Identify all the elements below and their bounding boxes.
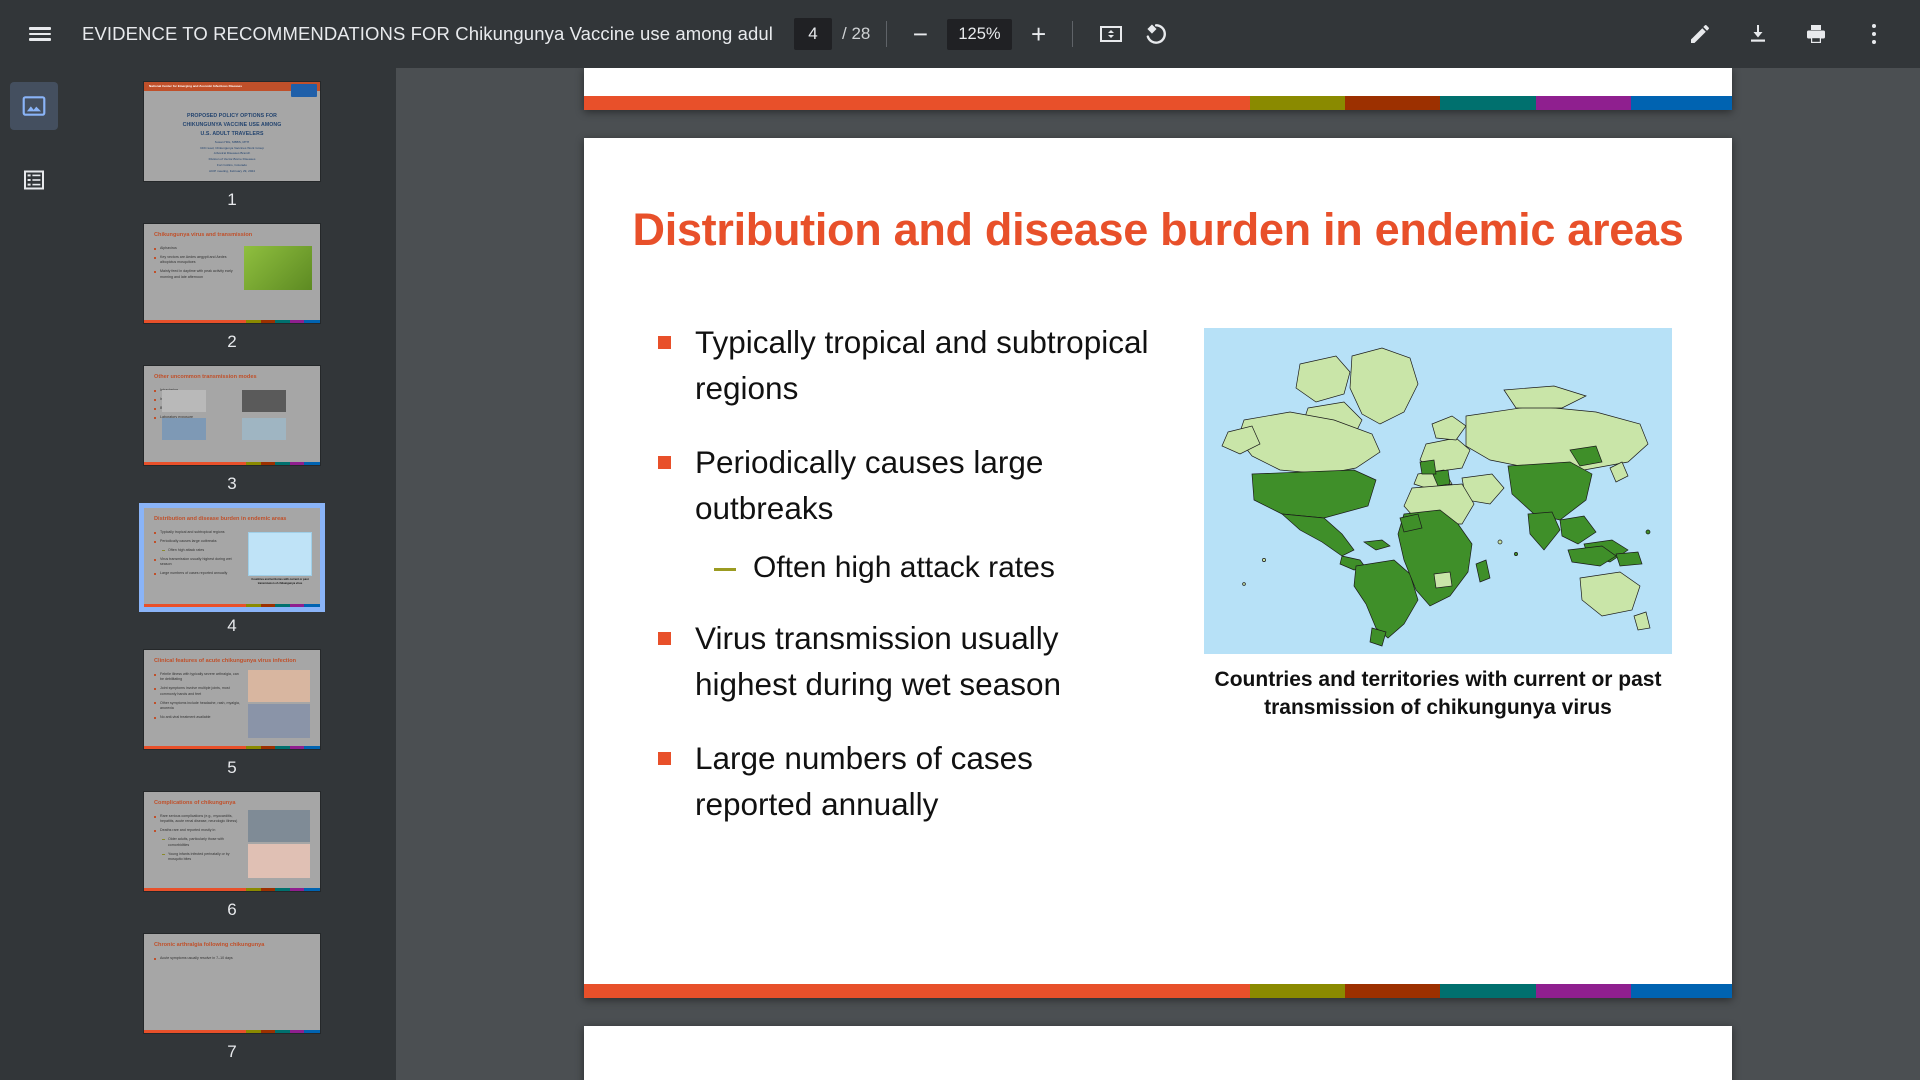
toolbar-divider-2 <box>1072 21 1073 47</box>
bullet-text: Large numbers of cases reported annually <box>695 736 1158 828</box>
thumbnail-title: Chronic arthralgia following chikungunya <box>154 942 264 948</box>
print-icon[interactable] <box>1794 12 1838 56</box>
slide-bullet: Large numbers of cases reported annually <box>658 736 1158 828</box>
thumbnail-footer-bar <box>144 888 320 891</box>
slide-bullet: Periodically causes large outbreaks <box>658 440 1158 532</box>
thumbnail-title: PROPOSED POLICY OPTIONS FORCHIKUNGUNYA V… <box>144 112 320 139</box>
thumbnail-item[interactable]: Chronic arthralgia following chikungunya… <box>68 934 396 1062</box>
thumbnail-photo <box>244 246 312 290</box>
thumbnail-item[interactable]: Distribution and disease burden in endem… <box>68 508 396 636</box>
page-3-bottom <box>584 68 1732 110</box>
thumbnail-subtitle: Susan Hills, MBBS, MTHCDC lead, Chikungu… <box>144 140 320 174</box>
page-4-slide: Distribution and disease burden in endem… <box>584 138 1732 998</box>
thumbnail-photo <box>162 390 206 412</box>
bullet-text: Typically tropical and subtropical regio… <box>695 320 1158 412</box>
thumbnail-page-number: 6 <box>227 900 236 920</box>
slide-footer-bar <box>584 984 1732 998</box>
thumbnail-preview[interactable]: Chikungunya virus and transmissionAlphav… <box>144 224 320 323</box>
thumbnail-footer-bar <box>144 746 320 749</box>
cdc-logo <box>291 84 317 97</box>
bullet-text: Virus transmission usually highest durin… <box>695 616 1158 708</box>
rotate-counterclockwise-icon[interactable] <box>1133 12 1177 56</box>
thumbnail-photo <box>248 810 310 842</box>
square-bullet-icon <box>658 336 671 349</box>
footer-segment <box>1250 96 1345 110</box>
pencil-edit-icon[interactable] <box>1678 12 1722 56</box>
thumbnail-page-number: 3 <box>227 474 236 494</box>
thumbnail-title: Other uncommon transmission modes <box>154 374 257 380</box>
footer-segment <box>1536 96 1631 110</box>
download-icon[interactable] <box>1736 12 1780 56</box>
thumbnail-item[interactable]: PROPOSED POLICY OPTIONS FORCHIKUNGUNYA V… <box>68 82 396 210</box>
thumbnail-page-number: 5 <box>227 758 236 778</box>
slide-footer-bar <box>584 96 1732 110</box>
slide-bullet: Typically tropical and subtropical regio… <box>658 320 1158 412</box>
square-bullet-icon <box>658 752 671 765</box>
thumbnail-page-number: 1 <box>227 190 236 210</box>
bullet-text: Often high attack rates <box>753 546 1055 590</box>
zoom-level-display[interactable]: 125% <box>947 19 1011 50</box>
pdf-viewer-toolbar: EVIDENCE TO RECOMMENDATIONS FOR Chikungu… <box>0 0 1920 68</box>
thumbnail-photo <box>162 418 206 440</box>
page-total-label: / 28 <box>842 24 870 44</box>
fit-to-page-icon[interactable] <box>1089 12 1133 56</box>
sidebar-icon-rail <box>0 68 68 1080</box>
thumbnail-bullets: Rare serious complications (e.g., myocar… <box>154 814 242 866</box>
footer-segment <box>584 984 1250 998</box>
slide-sub-bullet: Often high attack rates <box>714 546 1158 590</box>
zoom-in-button[interactable]: + <box>1022 17 1056 51</box>
document-viewer[interactable]: Distribution and disease burden in endem… <box>396 68 1920 1080</box>
thumbnail-footer-bar <box>144 1030 320 1033</box>
more-options-kebab-icon[interactable] <box>1852 12 1896 56</box>
thumbnail-pane[interactable]: PROPOSED POLICY OPTIONS FORCHIKUNGUNYA V… <box>68 68 396 1080</box>
page-navigation: / 28 <box>794 18 870 50</box>
thumbnail-page-number: 4 <box>227 616 236 636</box>
thumbnail-photo <box>242 390 286 412</box>
thumbnail-title: Complications of chikungunya <box>154 800 235 806</box>
dash-bullet-icon <box>714 568 736 571</box>
thumbnail-footer-bar <box>144 320 320 323</box>
thumbnail-title: Chikungunya virus and transmission <box>154 232 252 238</box>
toolbar-right-actions <box>1678 12 1920 56</box>
square-bullet-icon <box>658 456 671 469</box>
thumbnail-preview[interactable]: Distribution and disease burden in endem… <box>144 508 320 607</box>
thumbnail-footer-bar <box>144 462 320 465</box>
thumbnail-photo <box>248 844 310 878</box>
page-number-input[interactable] <box>794 18 832 50</box>
thumbnail-item[interactable]: Chikungunya virus and transmissionAlphav… <box>68 224 396 352</box>
thumbnail-bullets: AlphavirusKey vectors are Aedes aegypti … <box>154 246 242 284</box>
map-caption: Countries and territories with current o… <box>1188 666 1688 723</box>
thumbnail-bullets: Typically tropical and subtropical regio… <box>154 530 242 580</box>
page-5-slide-top: Clinical features of acute chikungunya v… <box>584 1026 1732 1080</box>
thumbnail-photo <box>248 670 310 702</box>
square-bullet-icon <box>658 632 671 645</box>
hamburger-menu-icon[interactable] <box>18 12 62 56</box>
footer-segment <box>1440 984 1535 998</box>
thumbnail-header-text: National Center for Emerging and Zoonoti… <box>149 84 242 88</box>
thumbnail-preview[interactable]: PROPOSED POLICY OPTIONS FORCHIKUNGUNYA V… <box>144 82 320 181</box>
toolbar-divider-1 <box>886 21 887 47</box>
thumbnail-page-number: 7 <box>227 1042 236 1062</box>
thumbnail-item[interactable]: Other uncommon transmission modesIntraut… <box>68 366 396 494</box>
thumbnail-photo <box>248 704 310 738</box>
thumbnail-list: PROPOSED POLICY OPTIONS FORCHIKUNGUNYA V… <box>68 68 396 1062</box>
thumbnail-photo <box>242 418 286 440</box>
thumbnail-title: Clinical features of acute chikungunya v… <box>154 658 296 664</box>
thumbnail-item[interactable]: Complications of chikungunyaRare serious… <box>68 792 396 920</box>
thumbnail-world-map <box>248 532 312 576</box>
slide-bullet: Virus transmission usually highest durin… <box>658 616 1158 708</box>
footer-segment <box>1631 96 1732 110</box>
thumbnail-title: Distribution and disease burden in endem… <box>154 516 286 522</box>
slide-bullet-list: Typically tropical and subtropical regio… <box>658 320 1158 856</box>
thumbnail-bullets: Acute symptoms usually resolve in 7–10 d… <box>154 956 242 965</box>
footer-segment <box>1440 96 1535 110</box>
thumbnail-footer-bar <box>144 604 320 607</box>
thumbnail-view-icon[interactable] <box>10 82 58 130</box>
thumbnail-bullets: Febrile illness with typically severe ar… <box>154 672 242 724</box>
document-outline-icon[interactable] <box>10 156 58 204</box>
thumbnail-preview[interactable]: Clinical features of acute chikungunya v… <box>144 650 320 749</box>
thumbnail-preview[interactable]: Chronic arthralgia following chikungunya… <box>144 934 320 1033</box>
document-title: EVIDENCE TO RECOMMENDATIONS FOR Chikungu… <box>82 23 772 45</box>
thumbnail-map-caption: Countries and territories with current o… <box>244 578 316 586</box>
footer-segment <box>1345 96 1440 110</box>
thumbnail-page-number: 2 <box>227 332 236 352</box>
thumbnail-item[interactable]: Clinical features of acute chikungunya v… <box>68 650 396 778</box>
thumbnail-preview[interactable]: Other uncommon transmission modesIntraut… <box>144 366 320 465</box>
thumbnail-preview[interactable]: Complications of chikungunyaRare serious… <box>144 792 320 891</box>
footer-segment <box>1250 984 1345 998</box>
footer-segment <box>584 96 1250 110</box>
footer-segment <box>1345 984 1440 998</box>
footer-segment <box>1631 984 1732 998</box>
bullet-text: Periodically causes large outbreaks <box>695 440 1158 532</box>
world-map-chikungunya-transmission <box>1204 328 1672 654</box>
footer-segment <box>1536 984 1631 998</box>
slide-title: Distribution and disease burden in endem… <box>584 204 1732 256</box>
zoom-out-button[interactable]: − <box>903 17 937 51</box>
